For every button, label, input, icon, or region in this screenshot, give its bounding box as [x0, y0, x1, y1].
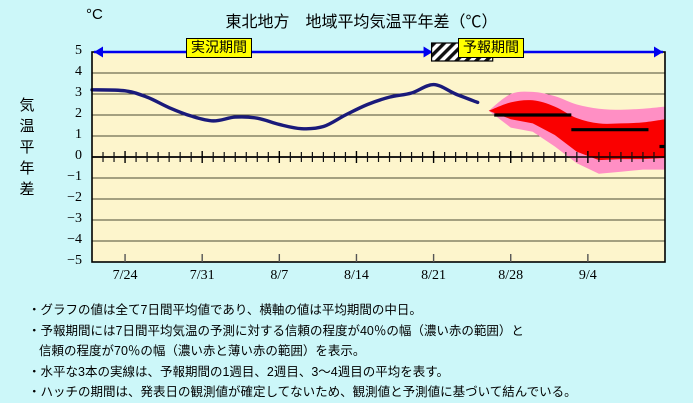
chart-notes: ・グラフの値は全て7日間平均値であり、横軸の値は平均期間の中日。 ・予報期間には…	[28, 300, 688, 403]
y-tick-label: −4	[56, 232, 82, 248]
x-tick-label: 8/7	[249, 268, 309, 284]
chart-plot	[0, 0, 693, 300]
period-label-forecast: 予報期間	[458, 38, 524, 58]
x-tick-label: 7/31	[172, 268, 232, 284]
note-line: ・予報期間には7日間平均気温の予測に対する信頼の程度が40％の幅（濃い赤の範囲）…	[28, 321, 688, 342]
x-tick-label: 7/24	[95, 268, 155, 284]
note-line: ・水平な3本の実線は、予報期間の1週目、2週目、3～4週目の平均を表す。	[28, 362, 688, 383]
y-tick-label: 2	[56, 106, 82, 122]
note-line: ・グラフの値は全て7日間平均値であり、横軸の値は平均期間の中日。	[28, 300, 688, 321]
x-tick-label: 8/21	[404, 268, 464, 284]
x-tick-label: 8/14	[326, 268, 386, 284]
y-tick-label: −3	[56, 211, 82, 227]
y-tick-label: −1	[56, 169, 82, 185]
y-tick-label: 0	[56, 148, 82, 164]
note-line: ・ハッチの期間は、発表日の観測値が確定してないため、観測値と予測値に基づいて結ん…	[28, 382, 688, 403]
y-tick-label: −5	[56, 253, 82, 269]
y-tick-label: 3	[56, 85, 82, 101]
x-tick-label: 9/4	[558, 268, 618, 284]
x-tick-label: 8/28	[481, 268, 541, 284]
period-label-observed: 実況期間	[186, 38, 252, 58]
y-tick-label: 4	[56, 64, 82, 80]
note-line: 信頼の程度が70％の幅（濃い赤と薄い赤の範囲）を表示。	[28, 341, 688, 362]
chart-page: °C 東北地方 地域平均気温平年差（℃） 気 温 平 年 差 543210−1−…	[0, 0, 693, 400]
y-tick-label: −2	[56, 190, 82, 206]
y-tick-label: 5	[56, 43, 82, 59]
y-tick-label: 1	[56, 127, 82, 143]
